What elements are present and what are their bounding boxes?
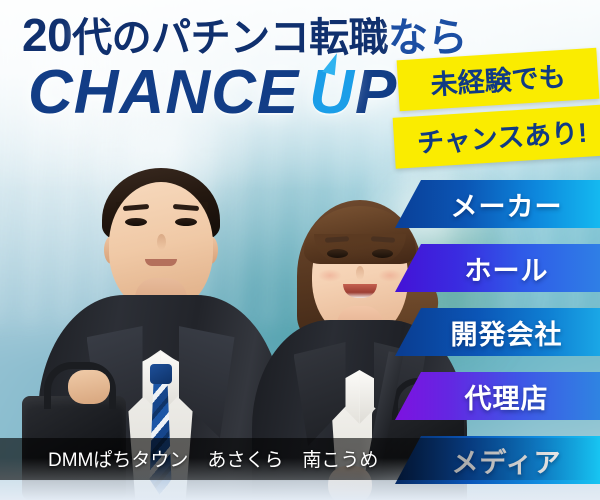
category-button-agency[interactable]: 代理店 — [395, 372, 600, 420]
category-button-maker[interactable]: メーカー — [395, 180, 600, 228]
category-label-hall: ホール — [447, 249, 549, 288]
headline-number: 20 — [22, 9, 72, 61]
logo-letter-u-arrow-icon: U — [309, 58, 355, 127]
chance-up-logo: CHANCEUP — [28, 62, 397, 124]
promo-badge-line-1: 未経験でも — [397, 48, 600, 111]
category-button-developer[interactable]: 開発会社 — [395, 308, 600, 356]
category-label-maker: メーカー — [433, 185, 563, 224]
logo-word-up: UP — [309, 62, 397, 124]
headline-text: 20代のパチンコ転職なら — [22, 12, 467, 58]
promo-badge-line-2: チャンスあり! — [393, 104, 600, 168]
man-eye-left — [125, 218, 147, 226]
category-label-agency: 代理店 — [447, 377, 549, 416]
promo-badge-group: 未経験でも チャンスあり! — [398, 54, 598, 162]
category-button-hall[interactable]: ホール — [395, 244, 600, 292]
man-hand — [68, 370, 110, 404]
man-eye-right — [175, 218, 197, 226]
woman-eye-right — [372, 249, 393, 258]
man-mouth — [145, 259, 177, 266]
woman-cheek-left — [318, 269, 342, 282]
woman-nose — [356, 266, 364, 280]
caption-bar: DMMぱちタウン あさくら 南こうめ — [0, 438, 600, 480]
logo-word-chance: CHANCE — [28, 58, 299, 127]
man-nose — [157, 234, 166, 250]
woman-eye-left — [327, 249, 348, 258]
logo-letter-p: P — [355, 58, 397, 127]
caption-text: DMMぱちタウン あさくら 南こうめ — [0, 445, 600, 472]
man-tie-knot — [150, 364, 172, 384]
category-label-developer: 開発会社 — [433, 313, 563, 352]
advertising-banner[interactable]: 20代のパチンコ転職なら CHANCEUP 未経験でも チャンスあり! メーカー… — [0, 0, 600, 500]
